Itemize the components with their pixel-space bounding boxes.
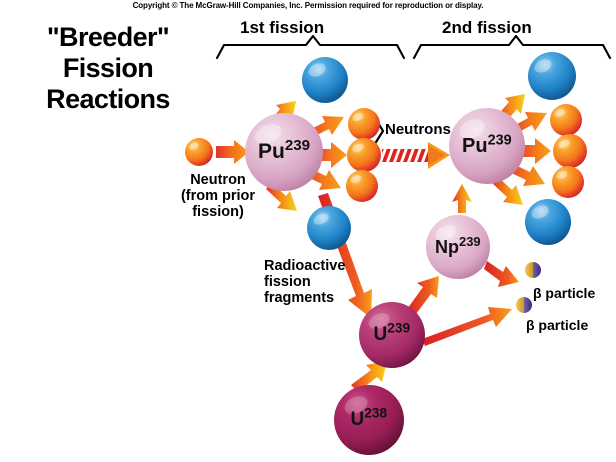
fission-fragment-blue-4 <box>525 199 571 245</box>
neutron-second-fission-1 <box>550 104 582 136</box>
radioactive-line-3: fragments <box>264 290 384 306</box>
neutron-first-fission-1 <box>348 108 380 140</box>
neutron-first-fission-2 <box>347 138 381 172</box>
label-1st-fission: 1st fission <box>240 18 324 37</box>
fission-fragment-blue-1 <box>302 57 348 103</box>
neutron-first-fission-3 <box>346 170 378 202</box>
label-beta-particle-lower: β particle <box>526 318 588 334</box>
nucleus-np239 <box>426 215 490 279</box>
label-2nd-fission: 2nd fission <box>442 18 532 37</box>
label-beta-particle-upper: β particle <box>533 286 595 302</box>
nucleus-u238 <box>334 385 404 455</box>
title-line-3: Reactions <box>8 84 208 115</box>
beta-particle-lower <box>516 297 532 313</box>
radioactive-line-1: Radioactive <box>264 258 384 274</box>
arrow-striped-to-pu2 <box>382 142 450 169</box>
neutron-second-fission-2 <box>553 134 587 168</box>
fission-fragment-blue-3 <box>528 52 576 100</box>
neutron-second-fission-3 <box>552 166 584 198</box>
neutron-source-line-1: Neutron <box>160 172 276 188</box>
label-neutrons: Neutrons <box>385 122 451 139</box>
radioactive-line-2: fission <box>264 274 384 290</box>
nucleus-u239 <box>359 302 425 368</box>
arrow-np239-to-beta-upper <box>484 261 519 287</box>
label-radioactive-fission-fragments: Radioactive fission fragments <box>264 258 384 307</box>
beta-particle-upper <box>525 262 541 278</box>
breeder-fission-diagram: Copyright © The McGraw-Hill Companies, I… <box>0 0 616 462</box>
nucleus-pu239-second <box>449 108 525 184</box>
neutron-source-line-2: (from prior <box>160 188 276 204</box>
title-line-2: Fission <box>8 53 208 84</box>
bracket-2nd-fission <box>414 36 610 58</box>
neutron-incoming <box>185 138 213 166</box>
arrow-incoming-neutron <box>216 140 249 164</box>
label-neutron-source: Neutron (from prior fission) <box>160 172 276 221</box>
neutron-source-line-3: fission) <box>160 204 276 220</box>
title-line-1: "Breeder" <box>8 22 208 53</box>
fission-fragment-blue-2 <box>307 206 351 250</box>
copyright-notice: Copyright © The McGraw-Hill Companies, I… <box>0 2 616 11</box>
bracket-1st-fission <box>217 36 404 58</box>
page-title: "Breeder" Fission Reactions <box>8 22 208 114</box>
arrow-u239-to-beta-lower <box>422 307 512 346</box>
arrow-np239-to-pu2 <box>452 184 472 213</box>
